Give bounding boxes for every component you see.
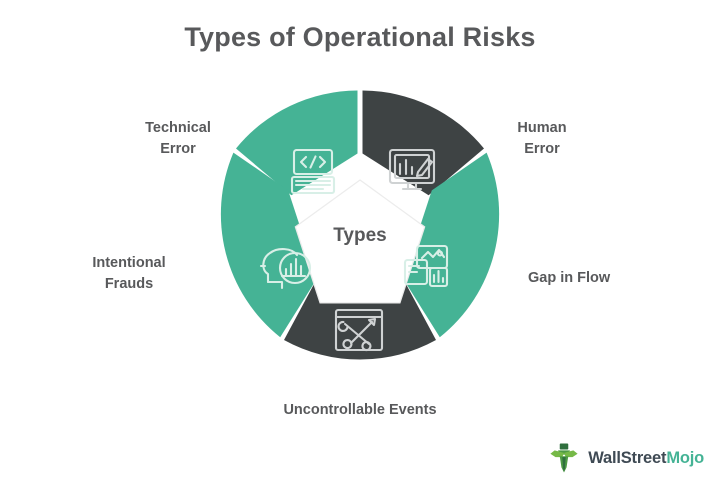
- label-intentional-frauds: Intentional Frauds: [60, 253, 198, 295]
- diagram-container: Technical Error Human Error Gap in Flow …: [0, 70, 720, 420]
- brand-name: WallStreetMojo: [588, 449, 704, 468]
- label-uncontrollable-events: Uncontrollable Events: [250, 400, 470, 421]
- label-gap-in-flow: Gap in Flow: [528, 268, 658, 289]
- brand-name-primary: WallStreet: [588, 449, 666, 467]
- brand-logo: WallStreetMojo: [547, 441, 704, 475]
- brand-name-accent: Mojo: [666, 449, 704, 467]
- label-human-error: Human Error: [482, 118, 602, 160]
- wallstreetmojo-logo-icon: [547, 441, 581, 475]
- page-title: Types of Operational Risks: [0, 22, 720, 53]
- label-technical-error: Technical Error: [118, 118, 238, 160]
- center-label: Types: [300, 225, 420, 247]
